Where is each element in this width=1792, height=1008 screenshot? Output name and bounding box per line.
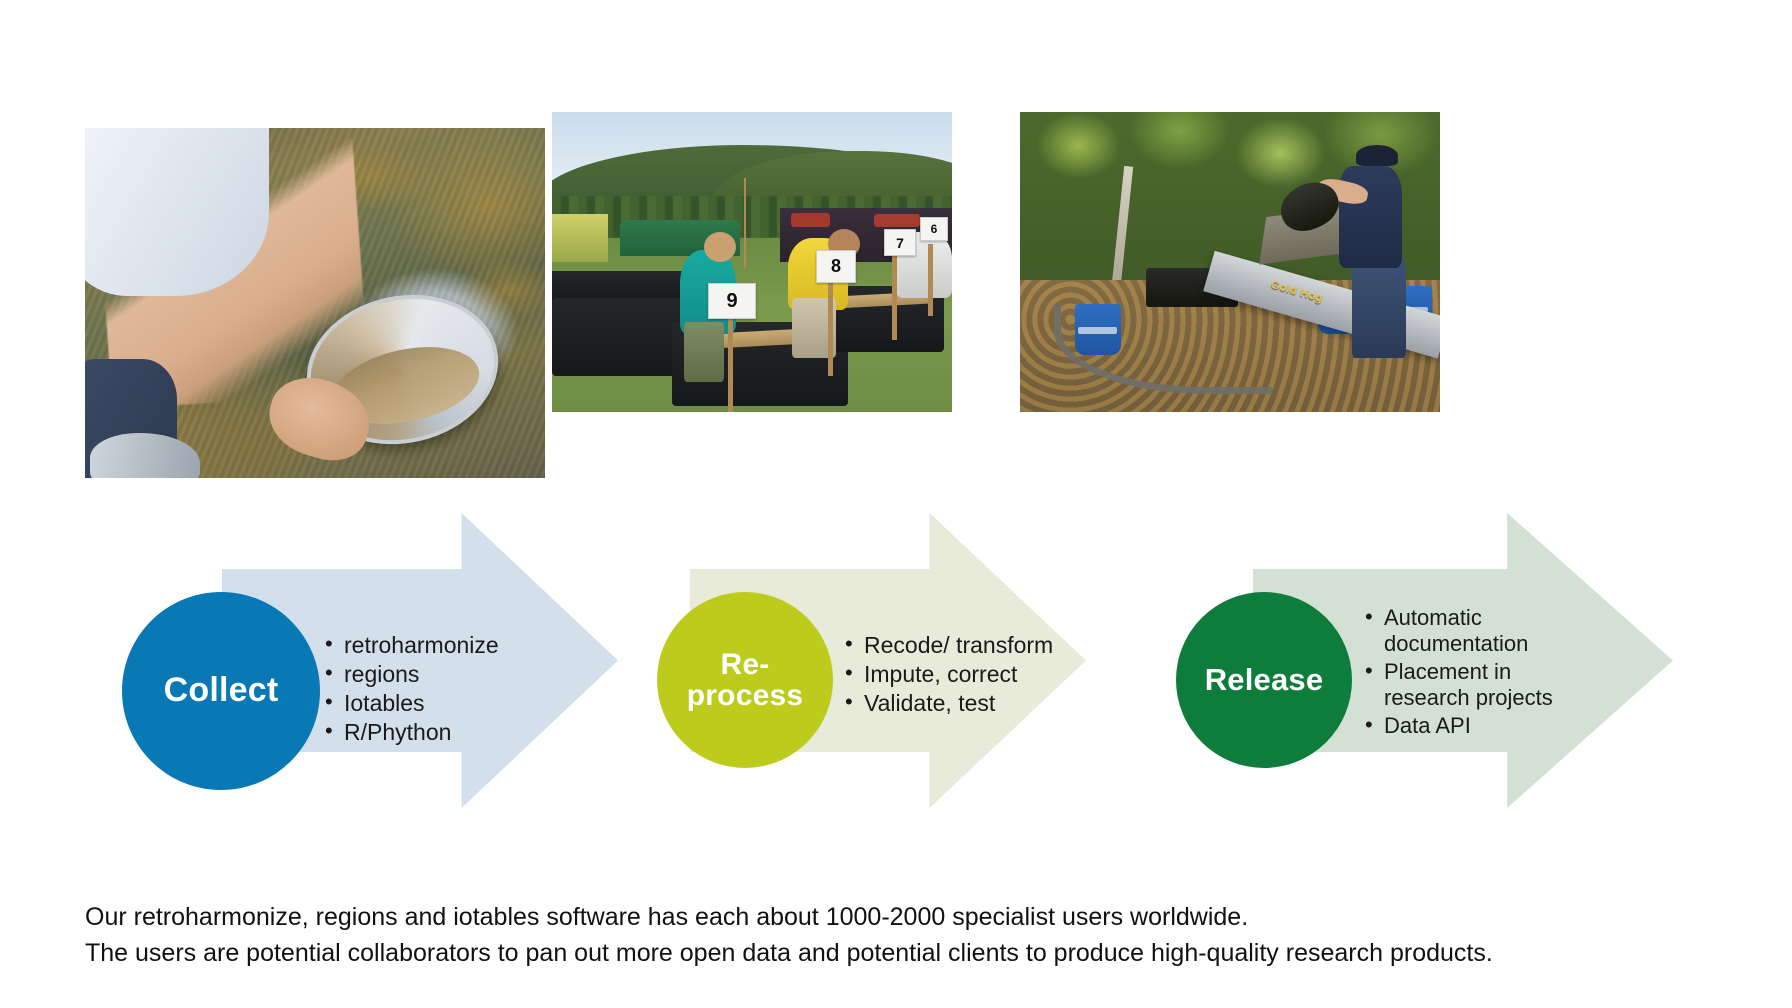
station-post-9 — [728, 304, 733, 412]
flag-pole — [744, 178, 746, 268]
list-item: Automatic documentation — [1365, 605, 1585, 657]
competitor-teal-legs — [684, 322, 724, 382]
station-number-8: 8 — [816, 250, 856, 283]
slide-caption: Our retroharmonize, regions and iotables… — [85, 900, 1705, 971]
list-item: Data API — [1365, 713, 1585, 739]
station-post-8 — [828, 274, 833, 376]
panner-shirt — [85, 128, 269, 296]
stage-label-collect: Collect — [164, 673, 279, 709]
stage-label-release: Release — [1205, 664, 1324, 697]
list-item: Iotables — [325, 690, 575, 717]
photo-gold-panning-stream — [85, 128, 545, 478]
stage-circle-release[interactable]: Release — [1176, 592, 1352, 768]
competitor-teal-head — [704, 232, 736, 262]
gold-hog-label: Gold Hog — [1269, 279, 1324, 305]
list-item: Validate, test — [845, 690, 1075, 717]
slide-canvas: 9 8 7 6 Gold Hog Collect retroharmonize … — [0, 0, 1792, 1008]
stage-circle-collect[interactable]: Collect — [122, 592, 320, 790]
station-number-7: 7 — [884, 229, 916, 256]
station-post-6 — [928, 244, 933, 316]
list-item: Impute, correct — [845, 661, 1075, 688]
list-item: Placement in research projects — [1365, 659, 1585, 711]
stage-bullets-collect: retroharmonize regions Iotables R/Phytho… — [325, 632, 575, 749]
miner-legs — [1352, 256, 1407, 358]
tent-yellow — [552, 214, 608, 262]
stage-label-reprocess-line1: Re- — [687, 649, 803, 681]
photo-sluice-box-operation: Gold Hog — [1020, 112, 1440, 412]
station-number-9: 9 — [708, 283, 756, 319]
stage-label-reprocess-line2: process — [687, 680, 803, 712]
list-item: retroharmonize — [325, 632, 575, 659]
stage-bullets-reprocess: Recode/ transform Impute, correct Valida… — [845, 632, 1075, 719]
miner-cap — [1356, 145, 1398, 166]
caption-line-2: The users are potential collaborators to… — [85, 936, 1705, 972]
stage-circle-reprocess[interactable]: Re- process — [657, 592, 833, 768]
list-item: Recode/ transform — [845, 632, 1075, 659]
list-item: R/Phython — [325, 719, 575, 746]
photo-panning-championship: 9 8 7 6 — [552, 112, 952, 412]
list-item: regions — [325, 661, 575, 688]
caption-line-1: Our retroharmonize, regions and iotables… — [85, 900, 1705, 936]
washing-trough-left — [552, 298, 688, 376]
station-post-7 — [892, 256, 897, 340]
station-number-6: 6 — [920, 217, 948, 241]
stage-bullets-release: Automatic documentation Placement in res… — [1365, 605, 1585, 741]
